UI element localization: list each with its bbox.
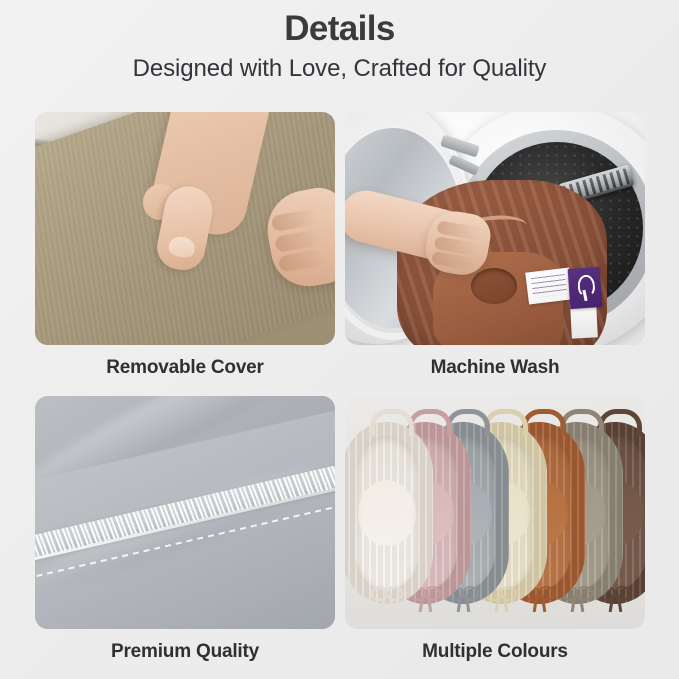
feature-caption: Multiple Colours (345, 629, 645, 675)
feature-caption: Premium Quality (35, 629, 335, 675)
removable-cover-photo (35, 112, 335, 345)
fabric-opening (471, 268, 517, 304)
feature-caption: Removable Cover (35, 345, 335, 391)
brand-logo-tag (568, 267, 603, 309)
care-label (525, 267, 573, 304)
premium-quality-photo (35, 396, 335, 629)
baby-nest-ivory (345, 422, 433, 604)
nest-tie-bow (371, 586, 403, 610)
multiple-colours-photo (345, 396, 645, 629)
header: Details Designed with Love, Crafted for … (0, 0, 679, 84)
details-infographic: Details Designed with Love, Crafted for … (0, 0, 679, 679)
feature-grid: Removable Cover (35, 112, 645, 675)
feature-caption: Machine Wash (345, 345, 645, 391)
finger-crease (278, 249, 326, 273)
page-title: Details (0, 0, 679, 49)
nest-handle (370, 409, 414, 436)
finger-crease (271, 208, 319, 232)
feature-card-premium-quality: Premium Quality (35, 396, 335, 675)
baby-nest-row (345, 396, 645, 629)
feature-card-multiple-colours: Multiple Colours (345, 396, 645, 675)
feature-card-machine-wash: Machine Wash (345, 112, 645, 391)
feature-card-removable-cover: Removable Cover (35, 112, 335, 391)
bumper-ridges (345, 422, 433, 604)
machine-wash-photo (345, 112, 645, 345)
page-subtitle: Designed with Love, Crafted for Quality (0, 49, 679, 84)
